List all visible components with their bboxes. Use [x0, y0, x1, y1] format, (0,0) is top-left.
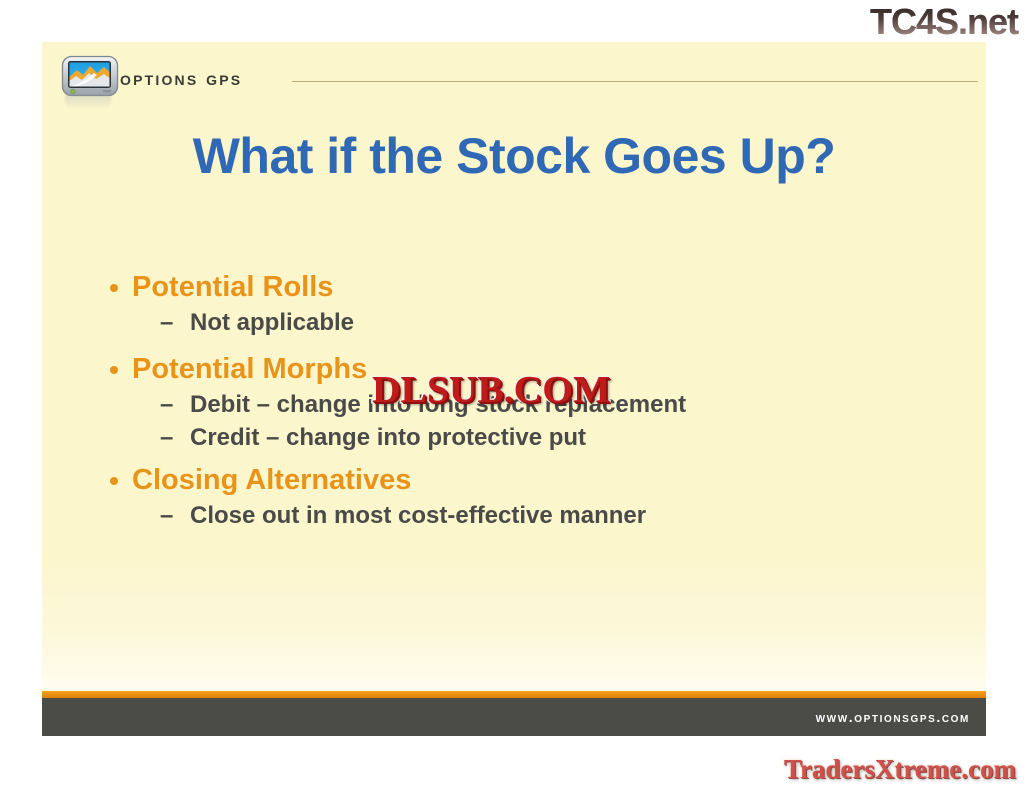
tradersxtreme-watermark: TradersXtreme.com — [784, 753, 1016, 785]
bullet-group: Closing Alternatives – Close out in most… — [64, 463, 966, 531]
sub-bullet-text: Close out in most cost-effective manner — [190, 502, 646, 529]
dash-icon: – — [160, 423, 173, 453]
bullet-heading-text: Potential Rolls — [132, 271, 333, 303]
slide-footer: www.OptionsGPS.com — [42, 698, 986, 736]
dash-icon: – — [160, 390, 173, 420]
presentation-slide: Options GPS What if the Stock Goes Up? P… — [42, 42, 986, 736]
sub-bullet-text: Not applicable — [190, 309, 354, 336]
logo-reflection — [65, 95, 111, 109]
gps-device-icon — [61, 55, 119, 97]
dlsub-watermark: DLSUB.COM — [372, 370, 610, 410]
sub-bullet-text: Credit – change into protective put — [190, 424, 586, 451]
slide-header: Options GPS — [42, 42, 986, 110]
brand-label: Options GPS — [120, 69, 242, 89]
header-divider — [292, 81, 978, 82]
slide-title: What if the Stock Goes Up? — [42, 127, 986, 185]
sub-bullet-item: – Not applicable — [64, 308, 966, 338]
bullet-heading: Closing Alternatives — [64, 463, 966, 497]
sub-bullet-item: – Close out in most cost-effective manne… — [64, 501, 966, 531]
tc4s-watermark: TC4S.net — [870, 2, 1018, 42]
bullet-group: Potential Rolls – Not applicable — [64, 270, 966, 338]
bullet-heading-text: Potential Morphs — [132, 353, 367, 385]
slide-bottom-fade — [42, 548, 986, 698]
dash-icon: – — [160, 501, 173, 531]
bullet-dot-icon — [110, 284, 118, 292]
bullet-dot-icon — [110, 477, 118, 485]
bullet-dot-icon — [110, 366, 118, 374]
footer-url-label: www.OptionsGPS.com — [816, 709, 970, 725]
dash-icon: – — [160, 308, 173, 338]
bullet-heading-text: Closing Alternatives — [132, 464, 411, 496]
bullet-heading: Potential Rolls — [64, 270, 966, 304]
sub-bullet-item: – Credit – change into protective put — [64, 423, 966, 453]
footer-accent-bar — [42, 691, 986, 698]
